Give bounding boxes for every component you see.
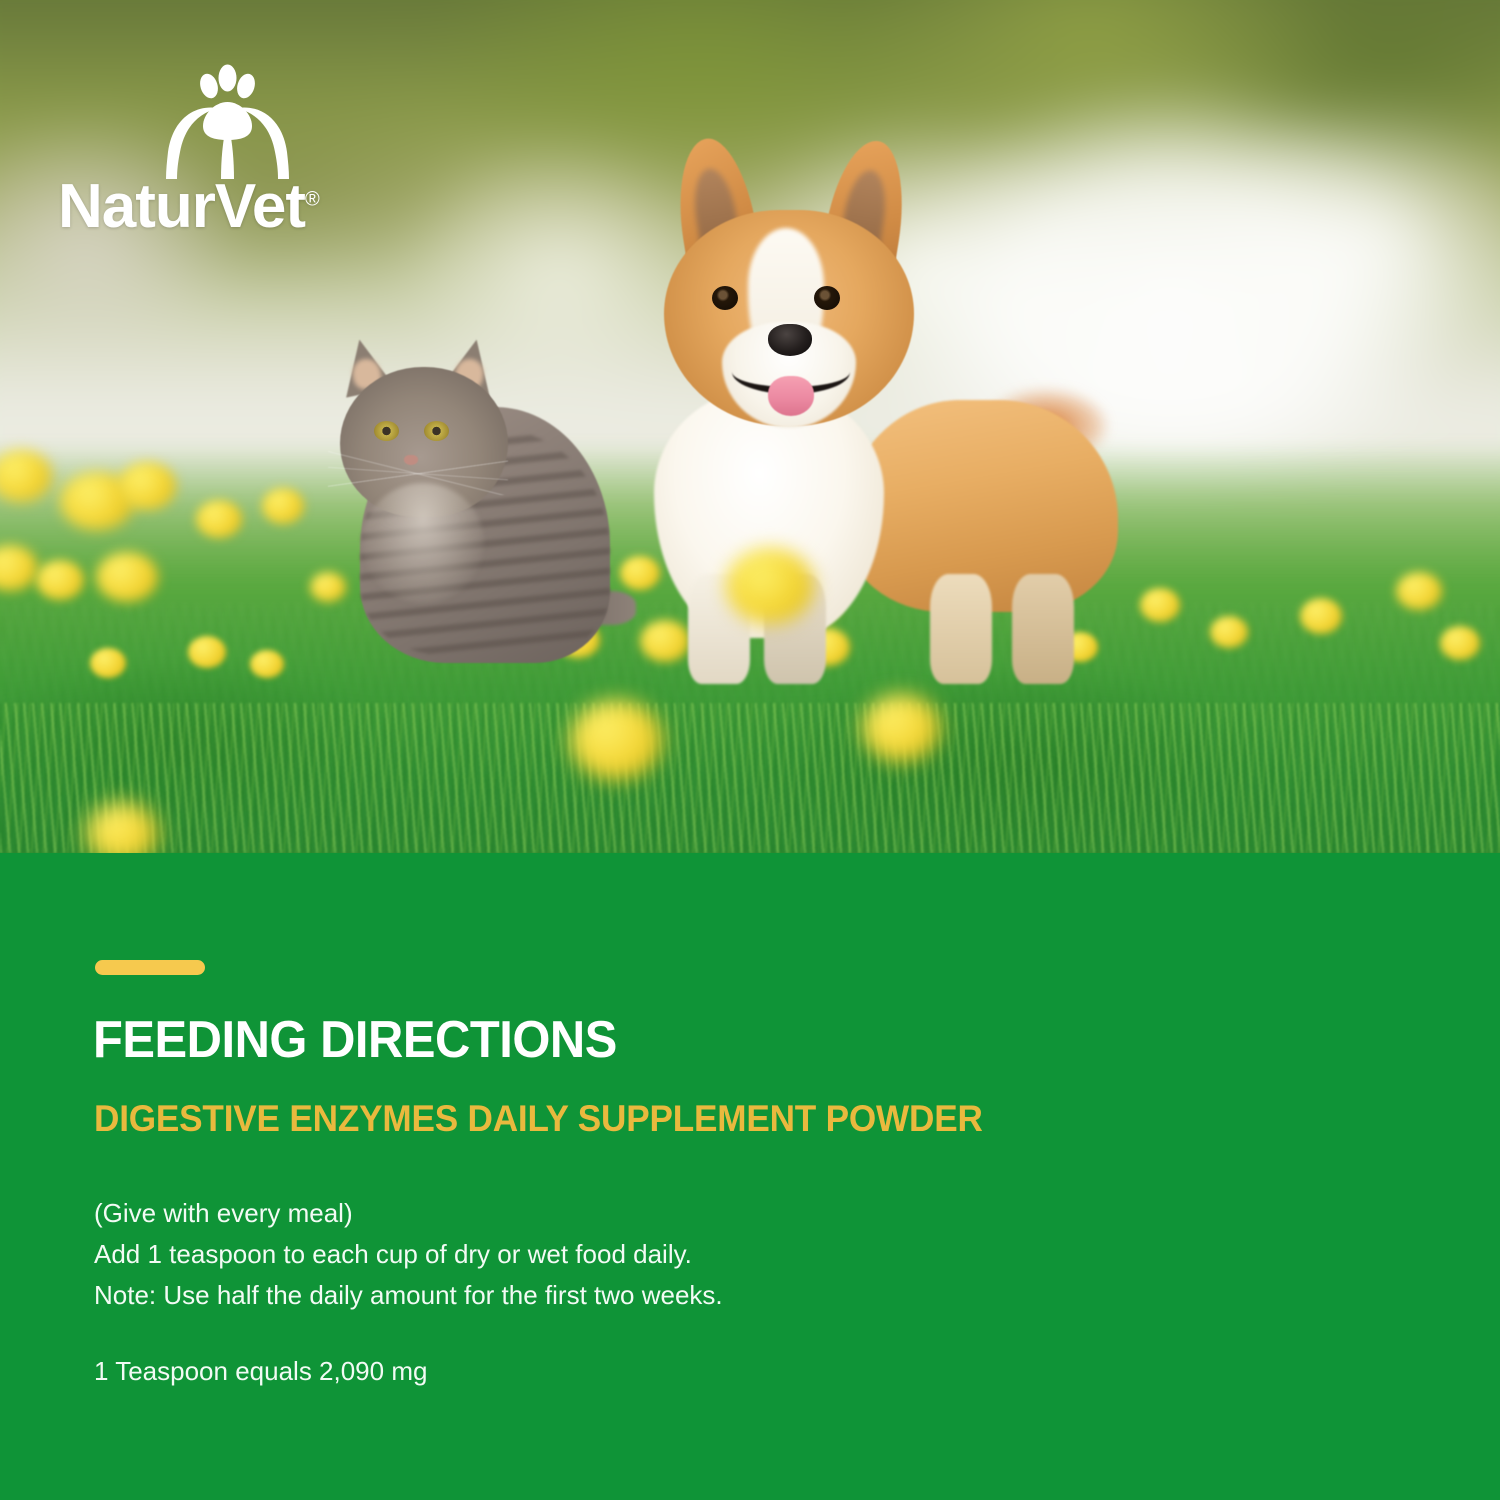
flower: [36, 560, 84, 600]
dog-photo-subject: [640, 138, 1120, 678]
dog-tongue: [768, 376, 814, 416]
instruction-line: Add 1 teaspoon to each cup of dry or wet…: [94, 1234, 723, 1275]
flower: [1396, 572, 1442, 610]
cat-chest-ruff: [362, 483, 484, 603]
flower: [1440, 626, 1480, 660]
flower: [862, 694, 940, 762]
instruction-line: Note: Use half the daily amount for the …: [94, 1275, 723, 1316]
registered-trademark-icon: ®: [305, 188, 320, 210]
cat-nose: [404, 455, 418, 465]
flower: [118, 462, 176, 510]
flower: [188, 636, 226, 668]
dog-hind-leg-right: [1012, 574, 1074, 684]
flower: [262, 488, 304, 524]
cat-eye-right: [424, 421, 449, 441]
paw-over-grass-icon: [162, 58, 292, 180]
dosage-footnote: 1 Teaspoon equals 2,090 mg: [94, 1358, 427, 1384]
flower: [250, 650, 284, 678]
dog-eye-right: [814, 286, 840, 310]
flower: [570, 700, 662, 780]
brand-wordmark-text: NaturVet: [58, 172, 305, 241]
flower: [90, 648, 126, 678]
hero-photo: NaturVet®: [0, 0, 1500, 853]
cat-whiskers: [328, 451, 508, 495]
flower: [726, 548, 814, 624]
foreground-grass-blades: [0, 703, 1500, 853]
flower: [1140, 588, 1180, 622]
cat-eye-left: [374, 421, 399, 441]
feeding-directions-panel: FEEDING DIRECTIONS DIGESTIVE ENZYMES DAI…: [0, 853, 1500, 1500]
flower: [1300, 598, 1342, 634]
flower: [96, 552, 158, 602]
brand-wordmark: NaturVet®: [58, 176, 320, 238]
accent-bar: [95, 960, 205, 975]
page-title: FEEDING DIRECTIONS: [93, 1014, 617, 1066]
cat-photo-subject: [318, 333, 618, 663]
instructions-block: (Give with every meal) Add 1 teaspoon to…: [94, 1193, 723, 1316]
product-feeding-directions-page: NaturVet® FEEDING DIRECTIONS DIGESTIVE E…: [0, 0, 1500, 1500]
flower: [1210, 616, 1248, 648]
instruction-line: (Give with every meal): [94, 1193, 723, 1234]
page-subtitle: DIGESTIVE ENZYMES DAILY SUPPLEMENT POWDE…: [94, 1100, 983, 1137]
dog-eye-left: [712, 286, 738, 310]
flower: [196, 500, 242, 538]
naturvet-logo[interactable]: NaturVet®: [58, 58, 388, 268]
dog-hind-leg-left: [930, 574, 992, 684]
